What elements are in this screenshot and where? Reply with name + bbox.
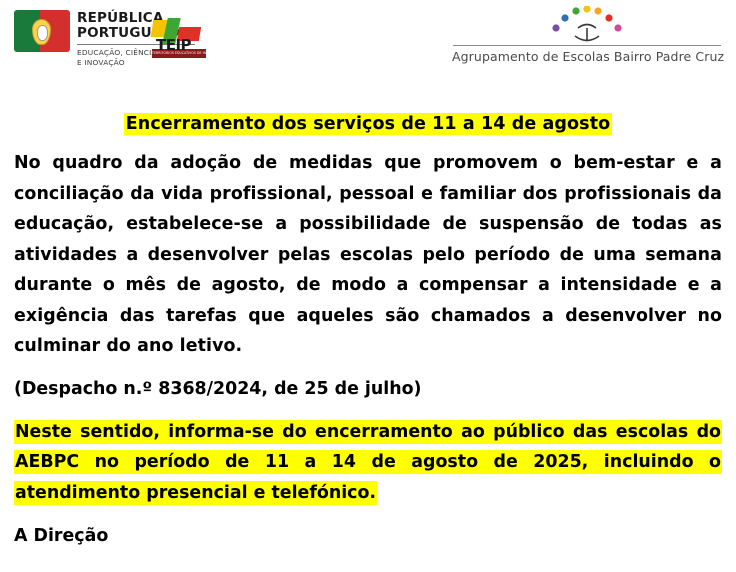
paragraph-highlighted-text: Neste sentido, informa-se do encerrament… <box>14 420 722 505</box>
teip-mark-icon: TEIP <box>152 18 206 48</box>
republica-logo-subtitle-line2: E INOVAÇÃO <box>77 58 195 68</box>
school-arc-dots-icon <box>548 6 626 46</box>
school-logo-name: Agrupamento de Escolas Bairro Padre Cruz <box>452 49 722 64</box>
page-title: Encerramento dos serviços de 11 a 14 de … <box>124 113 613 135</box>
school-logo: Agrupamento de Escolas Bairro Padre Cruz <box>452 4 722 64</box>
signature: A Direção <box>14 524 722 548</box>
portuguese-shield-icon <box>14 10 70 52</box>
paragraph-body: No quadro da adoção de medidas que promo… <box>14 148 722 362</box>
teip-logo-word: TEIP <box>156 36 191 54</box>
paragraph-highlighted: Neste sentido, informa-se do encerrament… <box>14 417 722 509</box>
legal-reference: (Despacho n.º 8368/2024, de 25 de julho) <box>14 375 722 403</box>
document-page: REPÚBLICA PORTUGUESA EDUCAÇÃO, CIÊNCIA E… <box>0 0 736 572</box>
document-content: Encerramento dos serviços de 11 a 14 de … <box>0 96 736 548</box>
document-header: REPÚBLICA PORTUGUESA EDUCAÇÃO, CIÊNCIA E… <box>0 0 736 92</box>
document-title-row: Encerramento dos serviços de 11 a 14 de … <box>14 114 722 134</box>
teip-logo: TEIP TERRITÓRIOS EDUCATIVOS DE INTERVENÇ… <box>152 18 210 58</box>
school-emblem-icon <box>452 4 722 44</box>
